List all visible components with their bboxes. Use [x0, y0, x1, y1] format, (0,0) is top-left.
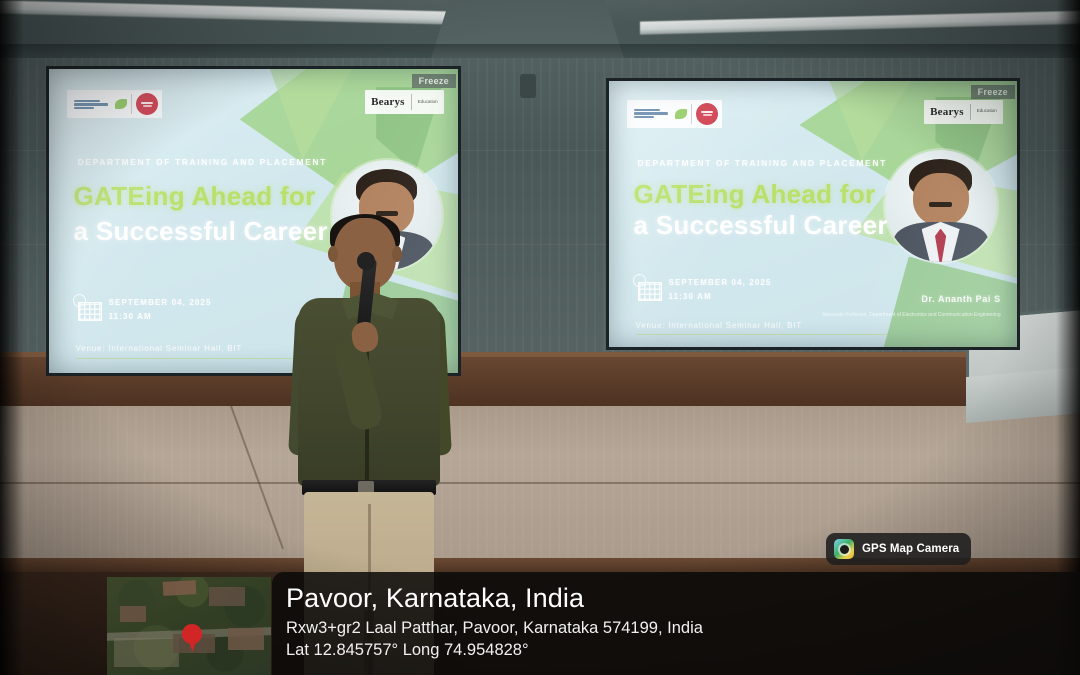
freeze-badge: Freeze [412, 74, 456, 88]
slide-department-line: DEPARTMENT OF TRAINING AND PLACEMENT [638, 158, 887, 168]
bearys-logo-text: Bearys [371, 96, 405, 108]
slide-date-block: SEPTEMBER 04, 2025 11:30 AM [636, 276, 772, 304]
portrait-face [885, 150, 997, 262]
slide-date: SEPTEMBER 04, 2025 [109, 296, 212, 310]
wall-speaker [520, 74, 536, 98]
portrait-mustache [929, 202, 951, 207]
calendar-clock-icon [76, 298, 102, 322]
institute-of-technology-logo [71, 99, 111, 111]
bearys-education-logo: Bearys Education [924, 100, 1003, 124]
bearys-logo-tagline: Education [418, 99, 438, 106]
gps-map-camera-label: GPS Map Camera [862, 543, 959, 555]
camera-lens-icon [840, 545, 849, 554]
naac-accreditation-seal [696, 103, 718, 125]
slide-datetime: SEPTEMBER 04, 2025 11:30 AM [109, 296, 212, 324]
presenter-ear [328, 246, 338, 262]
location-place-name: Pavoor, Karnataka, India [286, 584, 1080, 613]
location-info-banner: Pavoor, Karnataka, India Rxw3+gr2 Laal P… [272, 572, 1080, 675]
slide-department-line: DEPARTMENT OF TRAINING AND PLACEMENT [78, 157, 327, 167]
ceiling-light-strip [0, 0, 460, 24]
gps-map-camera-watermark: GPS Map Camera [826, 533, 971, 565]
slide-venue-rule [636, 334, 889, 335]
slide-speaker-designation: Associate Professor, Department of Elect… [822, 311, 1000, 320]
portrait-skin [913, 173, 969, 227]
slide-time: 11:30 AM [669, 290, 772, 304]
right-projection-screen: Bearys Education Freeze DEPARTMENT OF TR… [606, 78, 1020, 350]
bearys-education-logo: Bearys Education [365, 90, 444, 114]
slide-title-line1: GATEing Ahead for [74, 181, 316, 212]
speaker-portrait [885, 150, 997, 262]
location-address: Rxw3+gr2 Laal Patthar, Pavoor, Karnataka… [286, 617, 1080, 639]
institute-logo-band [67, 90, 162, 118]
slide-content-right: Bearys Education Freeze DEPARTMENT OF TR… [609, 81, 1017, 347]
slide-date-block: SEPTEMBER 04, 2025 11:30 AM [76, 296, 212, 324]
slide-title-line2: a Successful Career [633, 210, 887, 241]
slide-datetime: SEPTEMBER 04, 2025 11:30 AM [669, 276, 772, 304]
logo-divider [691, 104, 692, 124]
logo-divider [970, 104, 971, 120]
gps-map-camera-app-icon [834, 539, 854, 559]
institute-logo-band [627, 100, 722, 128]
map-overlay-shade [107, 577, 271, 675]
leaf-icon [115, 99, 127, 109]
slide-speaker-name: Dr. Ananth Pai S [921, 294, 1000, 304]
slide-venue: Venue: International Seminar Hall, BIT [636, 321, 802, 330]
screenshot-root: Bearys Education Freeze DEPARTMENT OF TR… [0, 0, 1080, 675]
location-coordinates: Lat 12.845757° Long 74.954828° [286, 640, 1080, 661]
floor-seam [0, 482, 1080, 484]
slide-time: 11:30 AM [109, 310, 212, 324]
bearys-logo-text: Bearys [930, 106, 964, 118]
slide-date: SEPTEMBER 04, 2025 [669, 276, 772, 290]
presenter-ear [392, 246, 402, 262]
ceiling-light-strip [640, 10, 1080, 34]
calendar-clock-icon [636, 278, 662, 302]
logo-divider [131, 94, 132, 114]
slide-title-line1: GATEing Ahead for [633, 179, 875, 210]
slide-venue: Venue: International Seminar Hall, BIT [76, 344, 242, 353]
microphone-head-icon [357, 252, 375, 270]
image-edge-shading [0, 0, 24, 675]
freeze-badge: Freeze [971, 85, 1015, 99]
bearys-logo-tagline: Education [977, 108, 997, 115]
leaf-icon [675, 109, 687, 119]
naac-accreditation-seal [136, 93, 158, 115]
satellite-map-thumbnail[interactable] [107, 577, 271, 675]
institute-of-technology-logo [631, 108, 671, 120]
logo-divider [411, 94, 412, 110]
